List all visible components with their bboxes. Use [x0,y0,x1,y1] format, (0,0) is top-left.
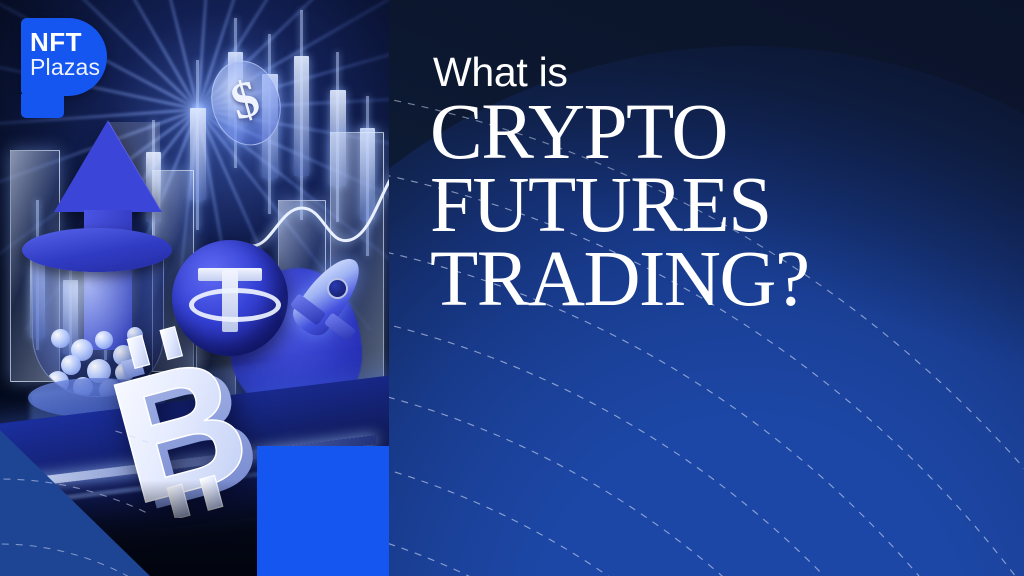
headline-eyebrow: What is [433,52,1010,94]
logo-tail [21,94,64,118]
nft-plazas-logo[interactable]: NFT Plazas [21,18,107,96]
logo-text-nft: NFT [30,29,82,55]
logo-text-plazas: Plazas [30,56,100,79]
accent-square [257,446,389,576]
promo-banner: $ [0,0,1024,576]
headline-block: What is CRYPTO FUTURES TRADING? [430,52,1010,316]
corner-triangle-accent [0,430,150,576]
triangle-dashed-arcs [0,430,150,576]
page-title: CRYPTO FUTURES TRADING? [430,96,1010,316]
